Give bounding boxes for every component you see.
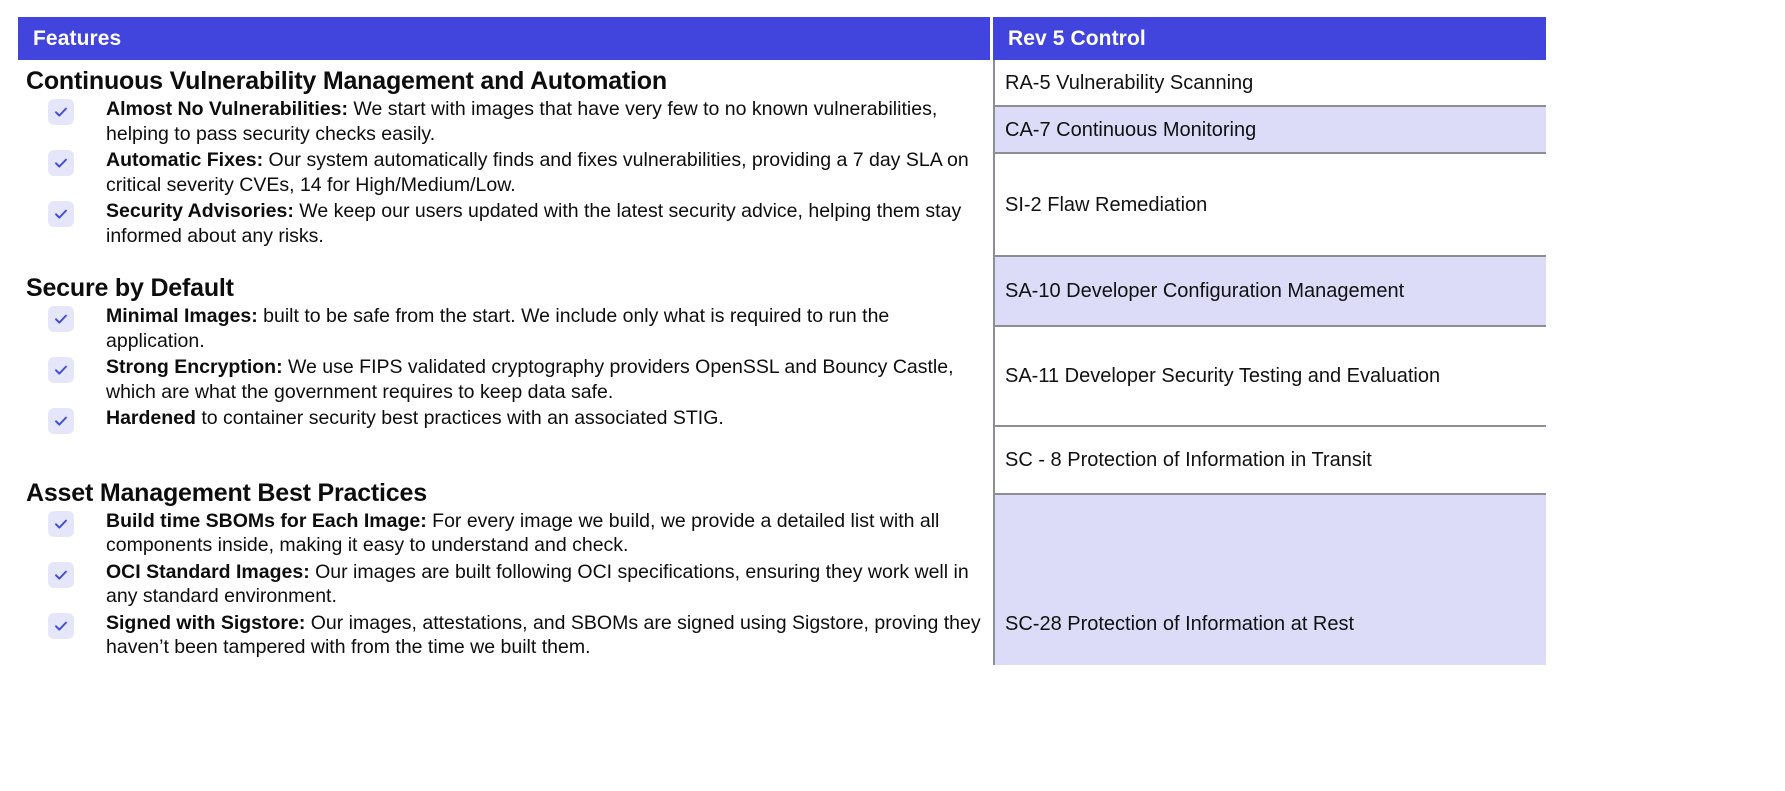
list-item-term: Almost No Vulnerabilities: (106, 98, 348, 120)
list-item-term: Build time SBOMs for Each Image: (106, 510, 427, 532)
check-icon (48, 150, 74, 176)
list-item-term: Strong Encryption: (106, 356, 283, 378)
check-icon (48, 613, 74, 639)
table-row: SA-10 Developer Configuration Management (995, 257, 1546, 327)
check-icon (48, 562, 74, 588)
feature-section: Secure by Default Minimal Images: built … (26, 273, 982, 431)
list-item-term: Minimal Images: (106, 305, 258, 327)
table-row: SC-28 Protection of Information at Rest (995, 495, 1546, 665)
rev5-control-column: RA-5 Vulnerability Scanning CA-7 Continu… (993, 60, 1546, 665)
section-title: Asset Management Best Practices (26, 478, 982, 508)
table-body-row: Continuous Vulnerability Management and … (18, 60, 1546, 665)
table-row: SA-11 Developer Security Testing and Eva… (995, 327, 1546, 427)
table-row: SI-2 Flaw Remediation (995, 154, 1546, 257)
table-row: CA-7 Continuous Monitoring (995, 107, 1546, 154)
section-title: Secure by Default (26, 273, 982, 303)
table-header-row: Features Rev 5 Control (18, 17, 1546, 60)
list-item: Strong Encryption: We use FIPS validated… (26, 355, 982, 404)
check-icon (48, 408, 74, 434)
section-title: Continuous Vulnerability Management and … (26, 66, 982, 96)
check-icon (48, 511, 74, 537)
table-row: RA-5 Vulnerability Scanning (995, 60, 1546, 107)
list-item: Automatic Fixes: Our system automaticall… (26, 148, 982, 197)
feature-list: Almost No Vulnerabilities: We start with… (26, 97, 982, 248)
list-item: OCI Standard Images: Our images are buil… (26, 560, 982, 609)
check-icon (48, 99, 74, 125)
list-item-text: to container security best practices wit… (196, 407, 724, 429)
feature-section: Continuous Vulnerability Management and … (26, 66, 982, 248)
check-icon (48, 306, 74, 332)
list-item-term: Automatic Fixes: (106, 149, 263, 171)
feature-list: Minimal Images: built to be safe from th… (26, 304, 982, 431)
column-header-rev5-control: Rev 5 Control (993, 17, 1546, 60)
section-spacer (26, 433, 982, 478)
feature-list: Build time SBOMs for Each Image: For eve… (26, 509, 982, 660)
feature-section: Asset Management Best Practices Build ti… (26, 478, 982, 660)
check-icon (48, 357, 74, 383)
list-item: Hardened to container security best prac… (26, 406, 982, 431)
list-item-term: Hardened (106, 407, 196, 429)
list-item-term: OCI Standard Images: (106, 561, 310, 583)
column-header-features: Features (18, 17, 990, 60)
list-item: Almost No Vulnerabilities: We start with… (26, 97, 982, 146)
table-row: SC - 8 Protection of Information in Tran… (995, 427, 1546, 495)
list-item: Build time SBOMs for Each Image: For eve… (26, 509, 982, 558)
list-item-term: Security Advisories: (106, 200, 294, 222)
section-spacer (26, 250, 982, 273)
features-column: Continuous Vulnerability Management and … (18, 60, 990, 665)
list-item: Signed with Sigstore: Our images, attest… (26, 611, 982, 660)
list-item: Minimal Images: built to be safe from th… (26, 304, 982, 353)
comparison-table: Features Rev 5 Control Continuous Vulner… (0, 0, 1785, 791)
list-item: Security Advisories: We keep our users u… (26, 199, 982, 248)
check-icon (48, 201, 74, 227)
list-item-term: Signed with Sigstore: (106, 612, 305, 634)
